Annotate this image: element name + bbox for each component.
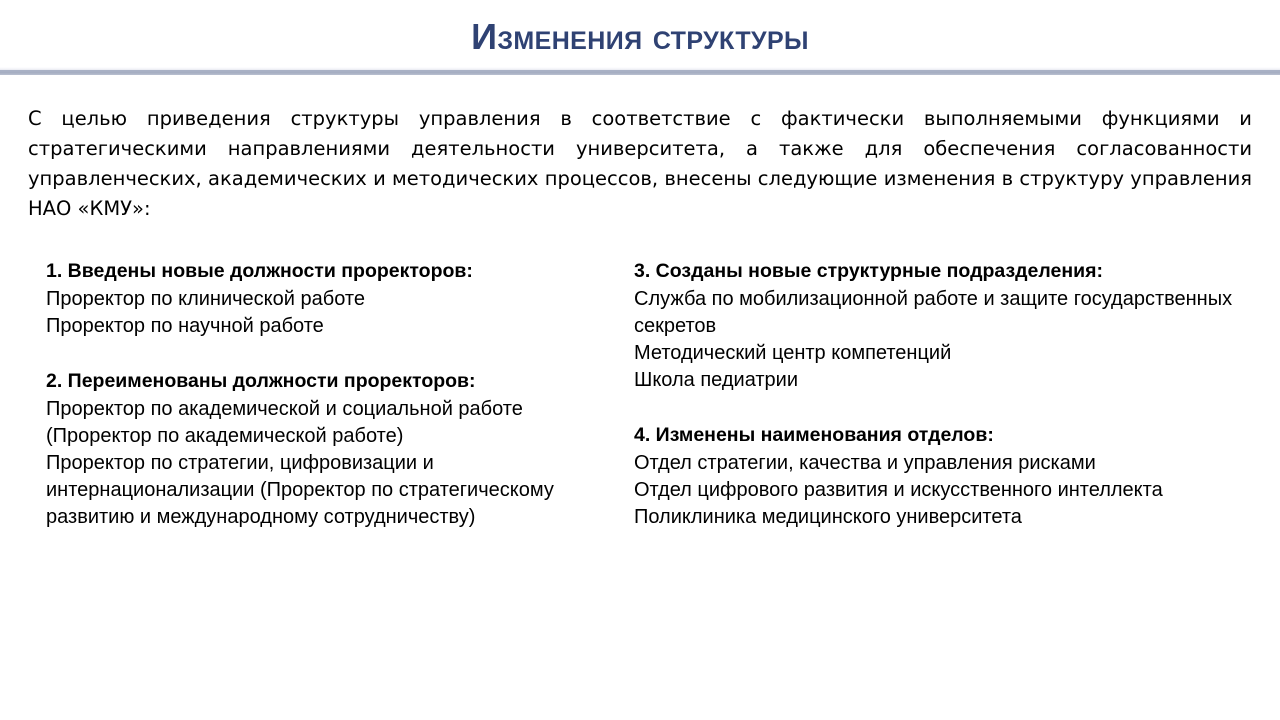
intro-paragraph: С целью приведения структуры управления … [28, 104, 1252, 224]
section-block-1: 1. Введены новые должности проректоров: … [46, 258, 606, 340]
section-block-4: 4. Изменены наименования отделов: Отдел … [634, 422, 1234, 531]
section-block-2: 2. Переименованы должности проректоров: … [46, 368, 606, 531]
column-right: 3. Созданы новые структурные подразделен… [634, 258, 1234, 531]
list-item: Проректор по стратегии, цифровизации и и… [46, 450, 606, 531]
list-item: Отдел цифрового развития и искусственног… [634, 477, 1234, 504]
list-item: Проректор по научной работе [46, 313, 606, 340]
title-divider-rule [0, 70, 1280, 75]
list-item: Отдел стратегии, качества и управления р… [634, 450, 1234, 477]
slide-header: Изменения структуры [0, 0, 1280, 78]
section-heading-2: 2. Переименованы должности проректоров: [46, 368, 606, 395]
section-heading-4: 4. Изменены наименования отделов: [634, 422, 1234, 449]
list-item: Проректор по академической и социальной … [46, 396, 606, 450]
list-item: Проректор по клинической работе [46, 286, 606, 313]
list-item: Школа педиатрии [634, 367, 1234, 394]
title-divider [0, 67, 1280, 76]
list-item: Поликлиника медицинского университета [634, 504, 1234, 531]
content-columns: 1. Введены новые должности проректоров: … [0, 258, 1280, 618]
section-block-3: 3. Созданы новые структурные подразделен… [634, 258, 1234, 394]
page-title: Изменения структуры [0, 14, 1280, 60]
section-heading-1: 1. Введены новые должности проректоров: [46, 258, 606, 285]
list-item: Методический центр компетенций [634, 340, 1234, 367]
section-heading-3: 3. Созданы новые структурные подразделен… [634, 258, 1234, 285]
column-left: 1. Введены новые должности проректоров: … [46, 258, 606, 531]
slide-canvas: { "slide": { "title": "Изменения структу… [0, 0, 1280, 720]
list-item: Служба по мобилизационной работе и защит… [634, 286, 1234, 340]
